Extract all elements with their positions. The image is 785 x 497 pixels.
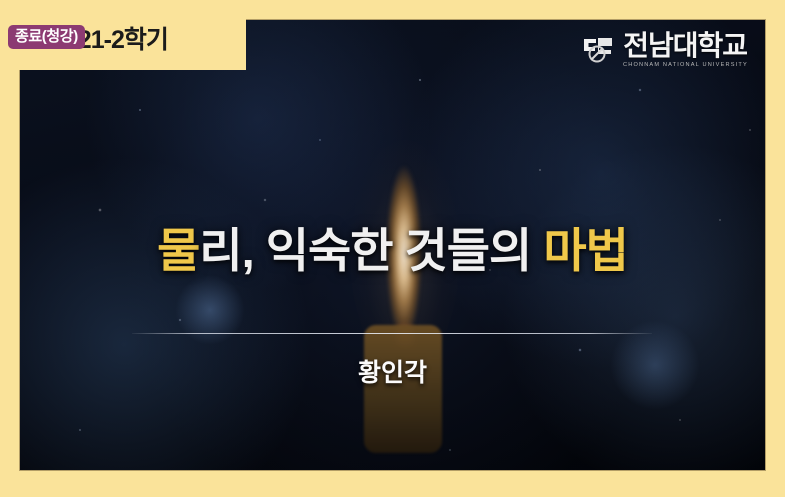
candle-body-icon xyxy=(364,325,442,453)
status-badge[interactable]: 종료(청강) xyxy=(8,25,85,49)
course-title-segment-3: 마법 xyxy=(543,224,627,277)
course-thumbnail-panel[interactable]: 전남대학교 CHONNAM NATIONAL UNIVERSITY 물리, 익숙… xyxy=(20,20,765,470)
university-name: 전남대학교 xyxy=(623,32,747,60)
course-card-screen: 전남대학교 CHONNAM NATIONAL UNIVERSITY 물리, 익숙… xyxy=(0,0,785,497)
course-instructor-name: 황인각 xyxy=(20,353,765,389)
course-title: 물리, 익숙한 것들의 마법 xyxy=(20,212,765,281)
chonnam-emblem-icon xyxy=(582,33,616,67)
university-logo: 전남대학교 CHONNAM NATIONAL UNIVERSITY xyxy=(582,32,747,69)
card-header: 종료(청강) xyxy=(8,22,85,52)
course-title-segment-2: 리, 익숙한 것들의 xyxy=(199,224,543,277)
course-title-segment-1: 물 xyxy=(157,224,199,277)
title-divider xyxy=(132,333,652,334)
university-subtitle: CHONNAM NATIONAL UNIVERSITY xyxy=(623,63,748,69)
university-logo-text: 전남대학교 CHONNAM NATIONAL UNIVERSITY xyxy=(623,32,747,69)
